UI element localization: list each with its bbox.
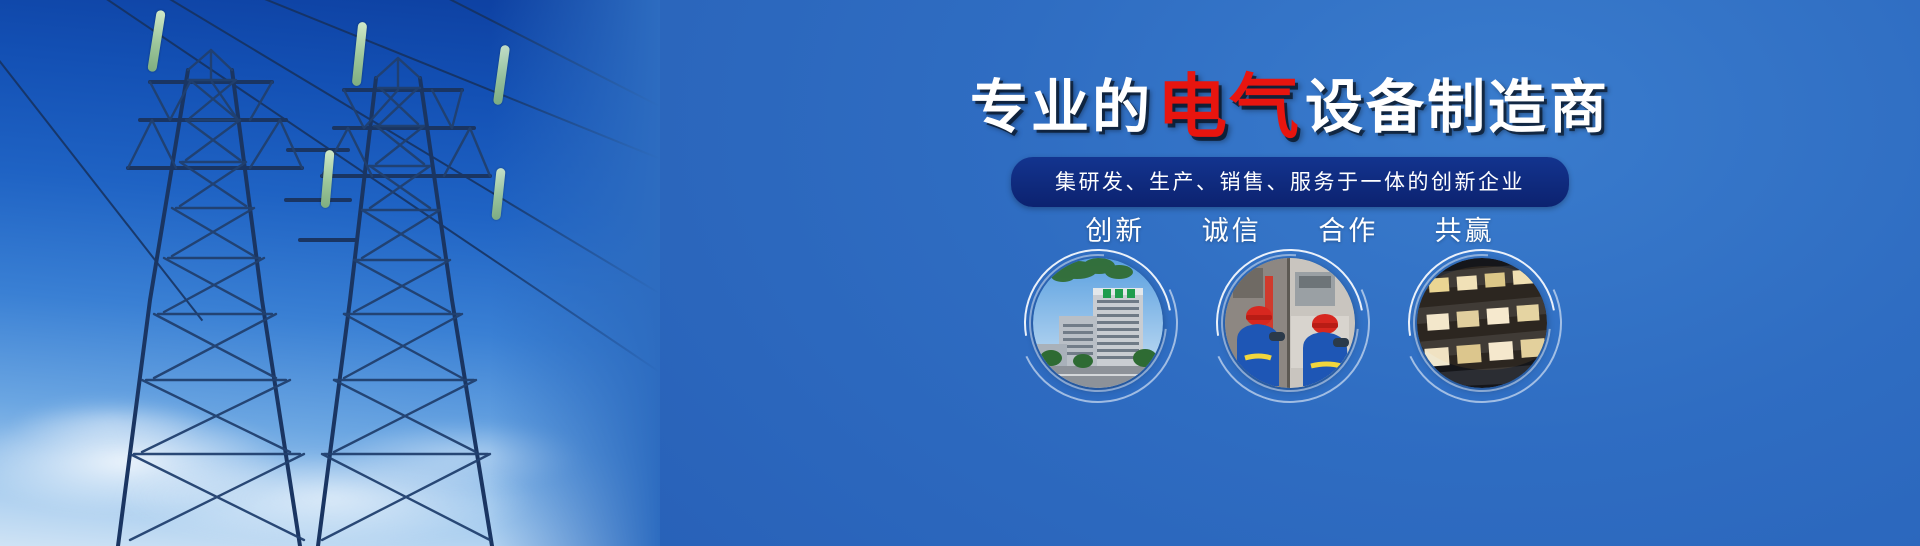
slogan-item-4: 共赢 — [1435, 209, 1495, 248]
subtitle-pill-wrapper: 集研发、生产、销售、服务于一体的创新企业 — [660, 157, 1920, 207]
insulator-string — [491, 168, 505, 221]
hero-banner: 专业的电气设备制造商 集研发、生产、销售、服务于一体的创新企业 创新 诚信 合作… — [0, 0, 1920, 546]
slogan-item-3: 合作 — [1318, 209, 1378, 248]
slogan-item-2: 诚信 — [1202, 209, 1262, 248]
thumbnail-product-showroom[interactable] — [1417, 258, 1547, 388]
insulator-string — [493, 45, 510, 106]
office-building-photo — [1033, 258, 1163, 388]
slogan-row: 创新 诚信 合作 共赢 — [660, 209, 1920, 248]
engineers-at-work-photo — [1225, 258, 1355, 388]
banner-headline: 专业的电气设备制造商 — [660, 72, 1920, 142]
thumbnail-office-building[interactable] — [1033, 258, 1163, 388]
slogan-item-1: 创新 — [1085, 209, 1145, 248]
subtitle-pill: 集研发、生产、销售、服务于一体的创新企业 — [1011, 157, 1569, 207]
headline-part-two: 设备制造商 — [1305, 75, 1610, 140]
headline-part-one: 专业的 — [970, 75, 1153, 140]
thumbnail-row — [660, 258, 1920, 388]
transmission-tower-photo — [0, 0, 660, 546]
lattice-pylon — [0, 0, 660, 546]
product-showroom-photo — [1417, 258, 1547, 388]
headline-highlight: 电气 — [1157, 68, 1301, 146]
banner-content: 专业的电气设备制造商 集研发、生产、销售、服务于一体的创新企业 创新 诚信 合作… — [660, 0, 1920, 546]
thumbnail-engineers-at-work[interactable] — [1225, 258, 1355, 388]
